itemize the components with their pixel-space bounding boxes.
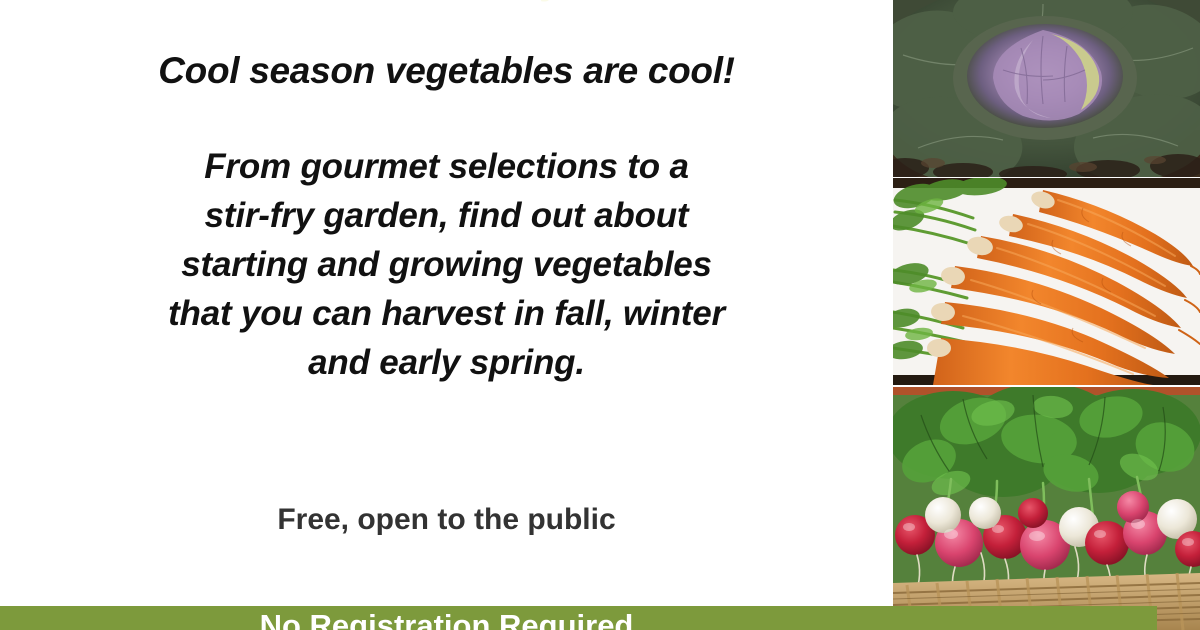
- carrots-photo: [893, 178, 1200, 385]
- cabbage-photo: [893, 0, 1200, 177]
- body-line: and early spring.: [40, 338, 853, 387]
- body-line: that you can harvest in fall, winter: [40, 289, 853, 338]
- footer-bar: No Registration Required: [0, 606, 1157, 630]
- radishes-illustration: [893, 387, 1200, 630]
- text-panel: 12th Wednesday 2nd Cool season vegetable…: [0, 0, 893, 606]
- photo-column: [893, 0, 1200, 630]
- event-title: 12th Wednesday 2nd: [0, 0, 893, 3]
- no-registration-text: No Registration Required: [0, 610, 893, 630]
- free-admission-note: Free, open to the public: [0, 503, 893, 537]
- carrots-illustration: [893, 178, 1200, 385]
- event-poster: 12th Wednesday 2nd Cool season vegetable…: [0, 0, 1200, 630]
- body-line: stir-fry garden, find out about: [40, 191, 853, 240]
- radishes-photo: [893, 387, 1200, 630]
- body-line: starting and growing vegetables: [40, 240, 853, 289]
- headline: Cool season vegetables are cool!: [0, 48, 893, 94]
- body-copy: From gourmet selections to a stir-fry ga…: [40, 142, 853, 387]
- cabbage-illustration: [893, 0, 1200, 177]
- body-line: From gourmet selections to a: [40, 142, 853, 191]
